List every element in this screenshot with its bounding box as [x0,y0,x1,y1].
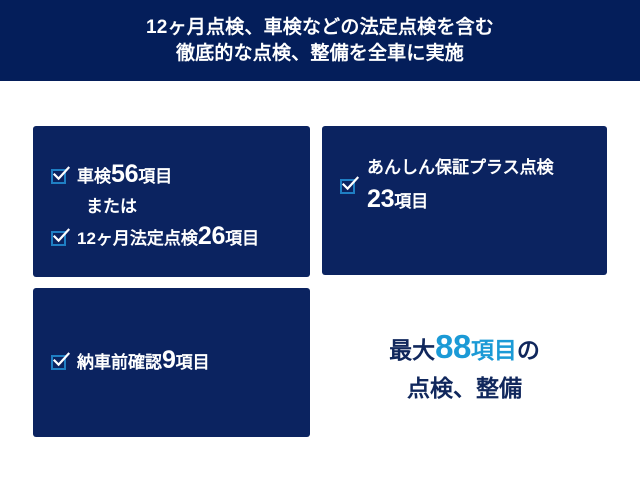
checkbox-checked-icon [51,229,68,246]
inspection-row-12month: 12ヶ月法定点検26項目 [51,224,300,251]
summary-line-1: 最大88項目の [322,330,607,371]
inspection-row-or: または [51,194,300,219]
inspection-row-12month-text: 12ヶ月法定点検 [77,229,198,248]
predelivery-row: 納車前確認9項目 [51,348,300,375]
checkbox-checked-icon [51,353,68,370]
card-warranty-inspection: あんしん保証プラス点検 23項目 [322,126,607,275]
card-inspection-items: 車検56項目 または 12ヶ月法定点検26項目 [33,126,310,277]
summary-prefix: 最大 [389,337,435,363]
summary-particle: の [517,337,540,363]
inspection-infographic: 12ヶ月点検、車検などの法定点検を含む 徹底的な点検、整備を全車に実施 車検56… [0,0,640,480]
summary-total-unit: 項目 [471,337,517,363]
predelivery-text: 納車前確認 [77,353,162,372]
warranty-title: あんしん保証プラス点検 [367,152,554,183]
warranty-inner: あんしん保証プラス点検 23項目 [340,152,599,218]
inspection-row-or-label: または [86,194,137,219]
inspection-row-shaken-text: 車検 [77,167,111,186]
inspection-row-shaken-label: 車検56項目 [77,162,172,189]
inspection-row-12month-label: 12ヶ月法定点検26項目 [77,224,259,251]
inspection-row-shaken: 車検56項目 [51,162,300,189]
header-band: 12ヶ月点検、車検などの法定点検を含む 徹底的な点検、整備を全車に実施 [0,0,640,81]
inspection-row-12month-suffix: 項目 [225,229,259,248]
warranty-count-number: 23 [367,185,394,213]
inspection-row-shaken-suffix: 項目 [138,167,172,186]
warranty-count-suffix: 項目 [394,192,428,211]
summary-subject: 点検、整備 [407,375,522,401]
inspection-row-shaken-number: 56 [111,160,138,188]
card-predelivery-check: 納車前確認9項目 [33,288,310,437]
header-title-line-2: 徹底的な点検、整備を全車に実施 [176,41,464,67]
summary-total: 最大88項目の 点検、整備 [322,330,607,409]
inspection-rows: 車検56項目 または 12ヶ月法定点検26項目 [51,162,300,251]
predelivery-number: 9 [162,346,176,374]
warranty-count: 23項目 [367,183,554,218]
predelivery-inner: 納車前確認9項目 [51,348,300,375]
predelivery-suffix: 項目 [176,353,210,372]
summary-line-2: 点検、整備 [322,371,607,409]
checkbox-checked-icon [340,177,357,194]
header-title-line-1: 12ヶ月点検、車検などの法定点検を含む [146,15,494,41]
warranty-text-block: あんしん保証プラス点検 23項目 [367,152,554,218]
predelivery-label: 納車前確認9項目 [77,348,210,375]
inspection-row-12month-number: 26 [198,222,225,250]
summary-total-number: 88 [435,328,471,365]
checkbox-checked-icon [51,167,68,184]
